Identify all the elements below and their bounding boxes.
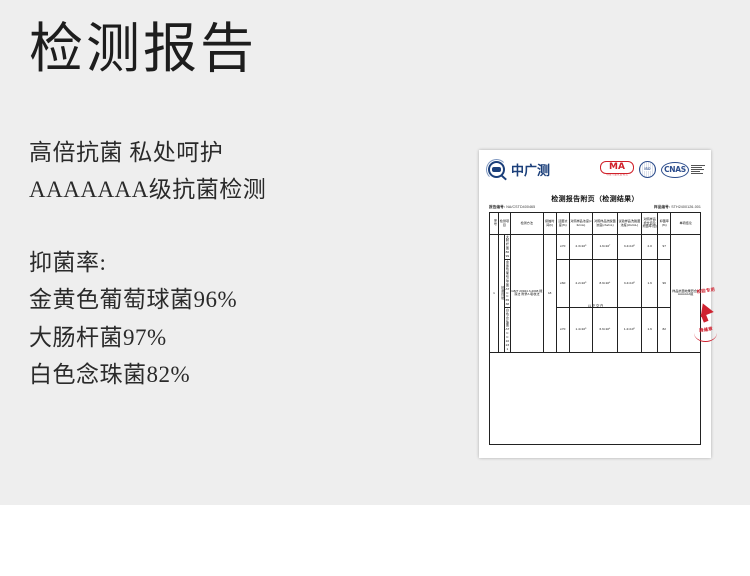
th-control-eluted: 对照样品洗脱菌浓度(cfu/mL) [593,213,617,235]
certificate-title: 检测报告附页（检测结果） [479,195,711,202]
th-method: 检测方法 [510,213,543,235]
iso-seal-icon: ISO [639,161,656,178]
ma-badge-label: MA [609,163,625,172]
cell-control-conc: 2.3×10⁵ [569,235,592,260]
th-control-conc: 对照样品浓度(cfu/mL) [569,213,592,235]
table-row: 1 抗菌性能 大肠杆菌 8099 GB/T 20944.3-2008 振荡法 附… [490,235,701,260]
cnas-badge-label: CNAS [664,166,686,174]
subtitle-line-1: 高倍抗菌 私处呵护 [29,134,449,171]
th-growth-value: 对照样品增长值及增菌率(倍) [642,213,658,235]
th-inhibition-rate: 抑菌率(%) [658,213,671,235]
cell-growth: 2.0 [642,235,658,260]
table-header-row: 序号 检测项目 检测方法 接触时间(h) 活菌浓度(%) 对照样品浓度(cfu/… [490,213,701,235]
zhongguangce-logo: 中广测 [487,160,550,182]
certificate-inner: 中广测 MA 中国计量认证标志 ISO CNAS [479,150,711,458]
accreditation-badges: MA 中国计量认证标志 ISO CNAS [600,161,705,178]
rate-item-candida: 白色念珠菌82% [29,356,449,393]
cell-sample-eluted: 3.4×10⁵ [617,235,641,260]
cell-rate: 97 [658,235,671,260]
subtitle-block: 高倍抗菌 私处呵护 AAAAAAA级抗菌检测 [29,134,449,209]
th-contact-time: 接触时间(h) [543,213,556,235]
ma-badge-caption: 中国计量认证标志 [600,174,634,177]
certificate-header: 中广测 MA 中国计量认证标志 ISO CNAS [485,158,705,190]
th-conclusion: 单项结论 [671,213,701,235]
certificate-meta: 报告编号: NA/CSTD400465 样品编号: STH2400126-001 [489,206,701,210]
report-number: 报告编号: NA/CSTD400465 [489,206,535,210]
inhibition-rate-block: 抑菌率: 金黄色葡萄球菌96% 大肠杆菌97% 白色念珠菌82% [29,244,449,393]
th-concentration: 活菌浓度(%) [556,213,569,235]
iso-seal-label: ISO [644,168,651,172]
page-title: 检测报告 [29,18,449,82]
rate-item-ecoli: 大肠杆菌97% [29,319,449,356]
subtitle-line-2: AAAAAAA级抗菌检测 [29,171,449,208]
th-sample-eluted: 试验样品洗脱菌浓度(cfu/mL) [617,213,641,235]
th-no: 序号 [490,213,499,235]
logo-label: 中广测 [511,165,550,178]
magnifier-icon [487,160,509,182]
sample-number: 样品编号: STH2400126-001 [654,206,701,210]
cnas-badge-icon: CNAS [661,162,705,178]
cell-concentration: ≥70 [556,235,569,260]
blank-area: 以下空白 [489,300,701,445]
inhibition-rate-heading: 抑菌率: [29,244,449,281]
cnas-textlines-icon [691,165,705,174]
ma-badge-icon: MA 中国计量认证标志 [600,161,634,178]
page-root: 检测报告 高倍抗菌 私处呵护 AAAAAAA级抗菌检测 抑菌率: 金黄色葡萄球菌… [0,0,750,576]
blank-area-label: 以下空白 [490,305,702,308]
rate-item-staphylococcus: 金黄色葡萄球菌96% [29,281,449,318]
left-text-column: 检测报告 高倍抗菌 私处呵护 AAAAAAA级抗菌检测 抑菌率: 金黄色葡萄球菌… [29,18,449,393]
th-item: 检测项目 [498,213,510,235]
certificate-document: 中广测 MA 中国计量认证标志 ISO CNAS [479,150,711,458]
cell-control-eluted: 1.6×10⁷ [593,235,617,260]
